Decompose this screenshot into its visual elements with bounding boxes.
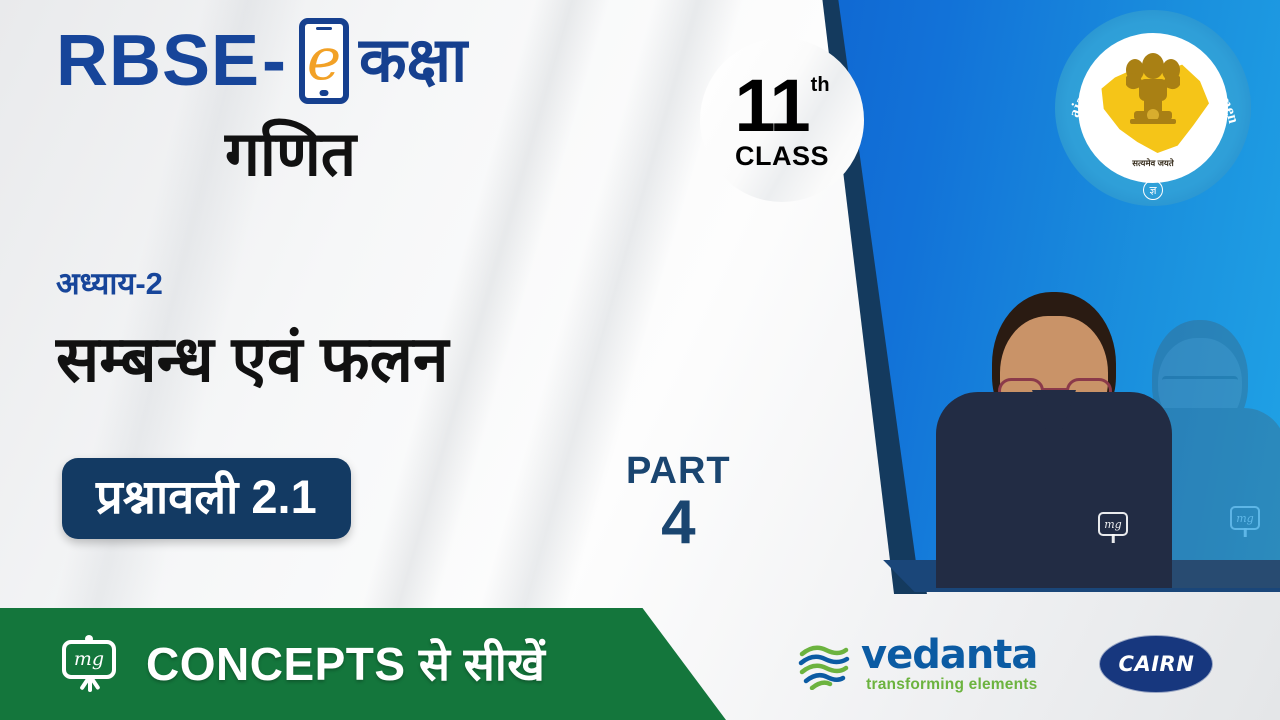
footer-tagline-hi: से सीखें bbox=[406, 638, 546, 690]
brand-name: RBSE bbox=[56, 25, 260, 97]
part-indicator: PART 4 bbox=[626, 452, 731, 554]
part-number: 4 bbox=[626, 492, 731, 554]
glasses-back bbox=[1162, 376, 1238, 386]
vedanta-name: vedanta bbox=[861, 635, 1037, 675]
vedanta-tagline: transforming elements bbox=[861, 677, 1037, 693]
subject-title: गणित bbox=[225, 124, 356, 186]
vedanta-logo: vedanta transforming elements bbox=[798, 635, 1037, 693]
class-badge: 11 th CLASS bbox=[700, 38, 864, 202]
footer-tagline-bar: mg CONCEPTS से सीखें bbox=[0, 608, 726, 720]
chest-logo-back: mg bbox=[1230, 506, 1260, 530]
sponsor-row: vedanta transforming elements CAIRN bbox=[740, 608, 1280, 720]
brand-title-row: RBSE - e कक्षा bbox=[56, 18, 467, 104]
mg-logo-text: mg bbox=[74, 650, 104, 669]
thumbnail-canvas: mg mg 11 th CLASS bbox=[0, 0, 1280, 720]
exercise-badge: प्रश्नावली 2.1 bbox=[62, 458, 351, 539]
e-letter: e bbox=[307, 30, 341, 88]
chest-logo-front: mg bbox=[1098, 512, 1128, 536]
rajasthan-education-department-logo: Rajasthan Education Department सत्य bbox=[1055, 10, 1251, 206]
part-word: PART bbox=[626, 452, 731, 490]
footer-tagline-en: CONCEPTS bbox=[146, 638, 406, 690]
cairn-name: CAIRN bbox=[1119, 652, 1195, 676]
vedanta-mark-icon bbox=[798, 638, 850, 690]
easel-board: mg bbox=[62, 640, 116, 679]
easel-legs bbox=[73, 676, 107, 692]
dept-bottom-glyph: ज्ञ bbox=[1143, 180, 1163, 200]
footer-tagline: CONCEPTS से सीखें bbox=[146, 641, 545, 687]
kaksha-label: कक्षा bbox=[359, 30, 467, 92]
class-label: CLASS bbox=[735, 141, 829, 172]
vedanta-wordmark: vedanta transforming elements bbox=[861, 635, 1037, 693]
chapter-title: सम्बन्ध एवं फलन bbox=[56, 323, 449, 397]
class-number: 11 bbox=[734, 69, 808, 143]
exercise-badge-label: प्रश्नावली 2.1 bbox=[96, 473, 317, 520]
mg-easel-icon: mg bbox=[56, 638, 122, 690]
dept-logo-inner: सत्यमेव जयते bbox=[1078, 33, 1228, 183]
dept-motto: सत्यमेव जयते bbox=[1132, 158, 1173, 169]
instructors-photo: mg mg bbox=[922, 232, 1280, 588]
class-ordinal-suffix: th bbox=[811, 75, 830, 95]
ashoka-emblem-icon bbox=[1114, 49, 1192, 141]
smartphone-icon: e bbox=[299, 18, 349, 104]
brand-dash: - bbox=[262, 25, 287, 97]
cairn-logo: CAIRN bbox=[1099, 635, 1213, 693]
class-number-row: 11 th bbox=[734, 69, 829, 143]
chapter-label: अध्याय-2 bbox=[56, 268, 163, 299]
